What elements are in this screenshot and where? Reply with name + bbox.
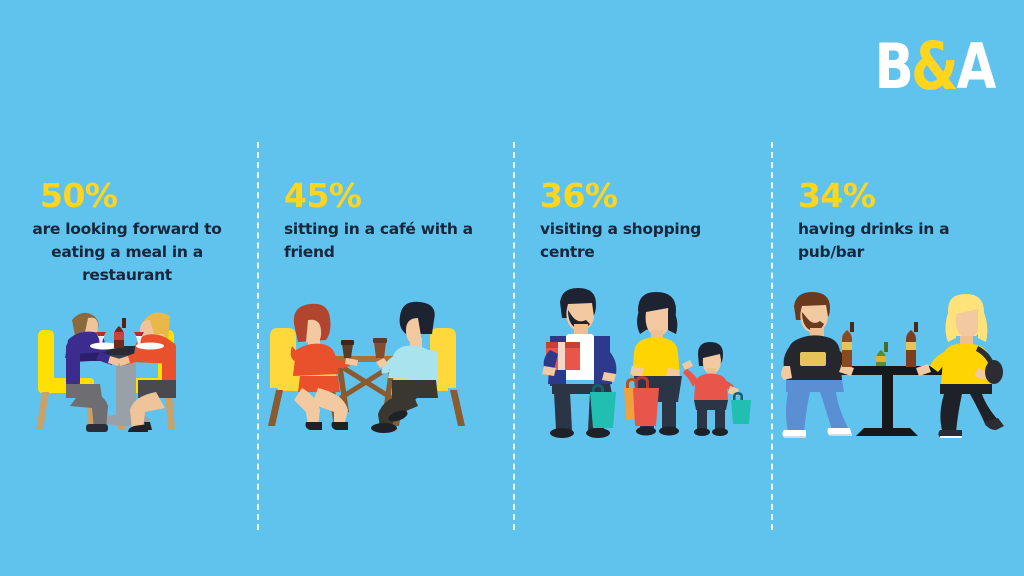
stat-column-shopping: 36% visiting a shopping centre — [512, 0, 768, 576]
stat-percent: 36% — [540, 178, 752, 214]
stat-caption: visiting a shopping centre — [540, 218, 752, 264]
stat-caption: are looking forward to eating a meal in … — [28, 218, 226, 287]
stat-percent: 45% — [284, 178, 496, 214]
stat-caption: sitting in a café with a friend — [284, 218, 496, 264]
stat-caption: having drinks in a pub/bar — [798, 218, 1010, 264]
stat-percent: 34% — [798, 178, 1010, 214]
stat-block: 34% having drinks in a pub/bar — [798, 178, 1010, 264]
infographic-slide: B & A 50% are looking forward to eating … — [0, 0, 1024, 576]
stat-column-restaurant: 50% are looking forward to eating a meal… — [0, 0, 256, 576]
stat-block: 36% visiting a shopping centre — [540, 178, 752, 264]
illustration-family-shopping — [512, 280, 768, 450]
illustration-couple-dining — [0, 280, 256, 450]
stat-column-cafe: 45% sitting in a café with a friend — [256, 0, 512, 576]
stat-percent: 50% — [40, 178, 240, 214]
illustration-cafe-friends — [256, 280, 512, 450]
stat-column-pub: 34% having drinks in a pub/bar — [770, 0, 1024, 576]
stat-block: 50% are looking forward to eating a meal… — [28, 178, 240, 287]
stat-block: 45% sitting in a café with a friend — [284, 178, 496, 264]
illustration-pub-drinks — [770, 280, 1024, 450]
